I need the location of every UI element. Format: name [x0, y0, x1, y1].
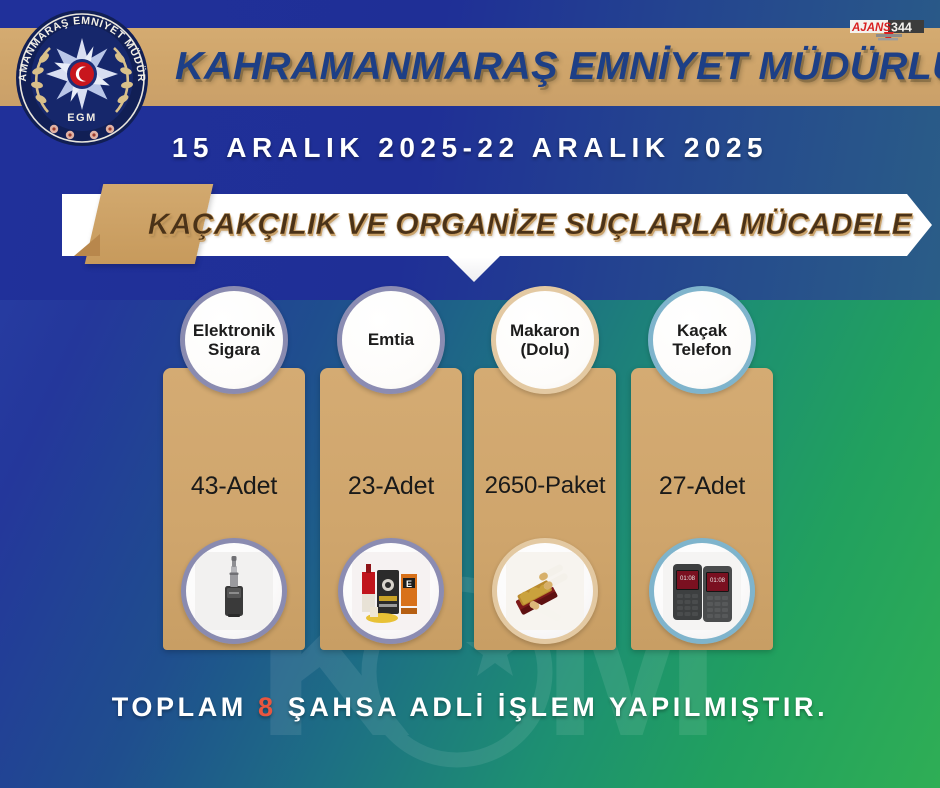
card-label-line-1: Elektronik: [193, 321, 275, 340]
poster-root: K M KAHRAMANMARAŞ EMNİYET MÜDÜRLÜĞÜ: [0, 0, 940, 788]
footer-prefix: TOPLAM: [112, 692, 258, 722]
mobile-phone-icon: 01:08 01:08: [663, 552, 741, 630]
card-label-line-2: (Dolu): [520, 340, 569, 359]
card-label-circle: Emtia: [337, 286, 445, 394]
card-label-circle: Elektronik Sigara: [180, 286, 288, 394]
card-image-circle: [492, 538, 598, 644]
footer-count: 8: [258, 692, 277, 722]
cigarette-tube-tobacco-icon: [506, 552, 584, 630]
card-label-line-1: Emtia: [368, 330, 414, 349]
footer-summary: TOPLAM 8 ŞAHSA ADLİ İŞLEM YAPILMIŞTIR.: [0, 692, 940, 723]
card-value: 2650-Paket: [474, 472, 616, 500]
svg-text:E: E: [406, 579, 412, 589]
card-value: 43-Adet: [163, 472, 305, 501]
card-label-line-2: Telefon: [672, 340, 731, 359]
seizure-cards: 43-Adet Elektronik Sigara: [0, 0, 940, 788]
commodity-goods-icon: E: [352, 552, 430, 630]
card-label-circle: Kaçak Telefon: [648, 286, 756, 394]
svg-text:01:08: 01:08: [710, 578, 726, 584]
card-image-circle: 01:08 01:08: [649, 538, 755, 644]
card-label-line-1: Kaçak: [677, 321, 727, 340]
card-image-circle: E: [338, 538, 444, 644]
footer-suffix: ŞAHSA ADLİ İŞLEM YAPILMIŞTIR.: [277, 692, 829, 722]
card-label-line-2: Sigara: [208, 340, 260, 359]
card-label-circle: Makaron (Dolu): [491, 286, 599, 394]
card-value: 23-Adet: [320, 472, 462, 501]
card-image-circle: [181, 538, 287, 644]
card-label-line-1: Makaron: [510, 321, 580, 340]
e-cigarette-vape-icon: [195, 552, 273, 630]
card-value: 27-Adet: [631, 472, 773, 501]
svg-text:01:08: 01:08: [680, 576, 696, 582]
